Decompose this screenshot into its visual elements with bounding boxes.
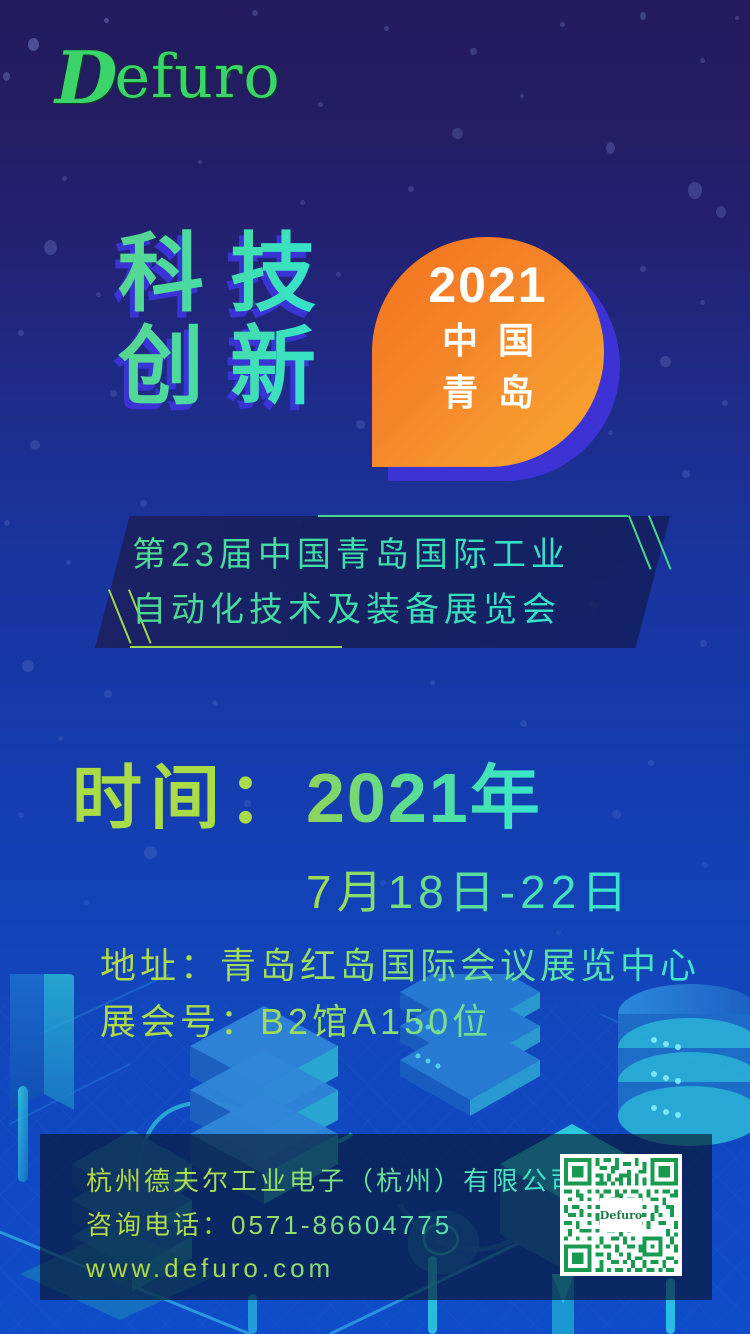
banner-text-group: 第23届中国青岛国际工业 自动化技术及装备展览会 [132,528,662,638]
badge-face: 2021 中国 青岛 [372,237,604,467]
headline-row-2: 创新 创新 [118,321,342,414]
headline-block: 科技 科技 创新 创新 [118,228,342,414]
logo-wordmark: efuro [114,42,280,112]
badge-city: 青岛 [372,367,604,419]
date-year: 2021年 [306,759,542,837]
qr-center-logo: Defuro [600,1198,642,1232]
date-label: 时间： [72,759,306,837]
location-year-badge: 2021 中国 青岛 [372,237,620,481]
date-range: 7月18日-22日 [306,856,632,922]
brand-logo: Defuro [55,42,281,114]
promo-poster: Defuro 科技 科技 创新 创新 2021 中国 青岛 第23届 [0,0,750,1334]
banner-deco-bottom-line [130,646,342,648]
footer-website[interactable]: www.defuro.com [86,1247,579,1291]
venue-booth: 展会号：B2馆A150位 [100,994,700,1050]
badge-country: 中国 [372,315,604,367]
date-primary-row: 时间：2021年 [72,760,542,837]
headline-row-1: 科技 科技 [118,228,342,321]
banner-line-2: 自动化技术及装备展览会 [132,583,662,638]
venue-block: 地址：青岛红岛国际会议展览中心 展会号：B2馆A150位 [100,938,700,1050]
footer-company-name: 杭州德夫尔工业电子（杭州）有限公司 [86,1160,579,1204]
logo-d-mark: D [55,35,118,120]
footer-panel: 杭州德夫尔工业电子（杭州）有限公司 咨询电话：0571-86604775 www… [40,1134,712,1300]
footer-contact-group: 杭州德夫尔工业电子（杭州）有限公司 咨询电话：0571-86604775 www… [86,1160,579,1291]
headline-line2: 创新 [118,319,342,415]
venue-address: 地址：青岛红岛国际会议展览中心 [100,938,700,994]
banner-line-1: 第23届中国青岛国际工业 [132,528,662,583]
footer-phone: 咨询电话：0571-86604775 [86,1204,579,1248]
banner-deco-top-line [318,515,628,517]
subtitle-banner: 第23届中国青岛国际工业 自动化技术及装备展览会 [0,498,750,678]
qr-code[interactable]: Defuro [560,1154,682,1276]
headline-line1: 科技 [118,226,342,322]
badge-year: 2021 [372,257,604,315]
